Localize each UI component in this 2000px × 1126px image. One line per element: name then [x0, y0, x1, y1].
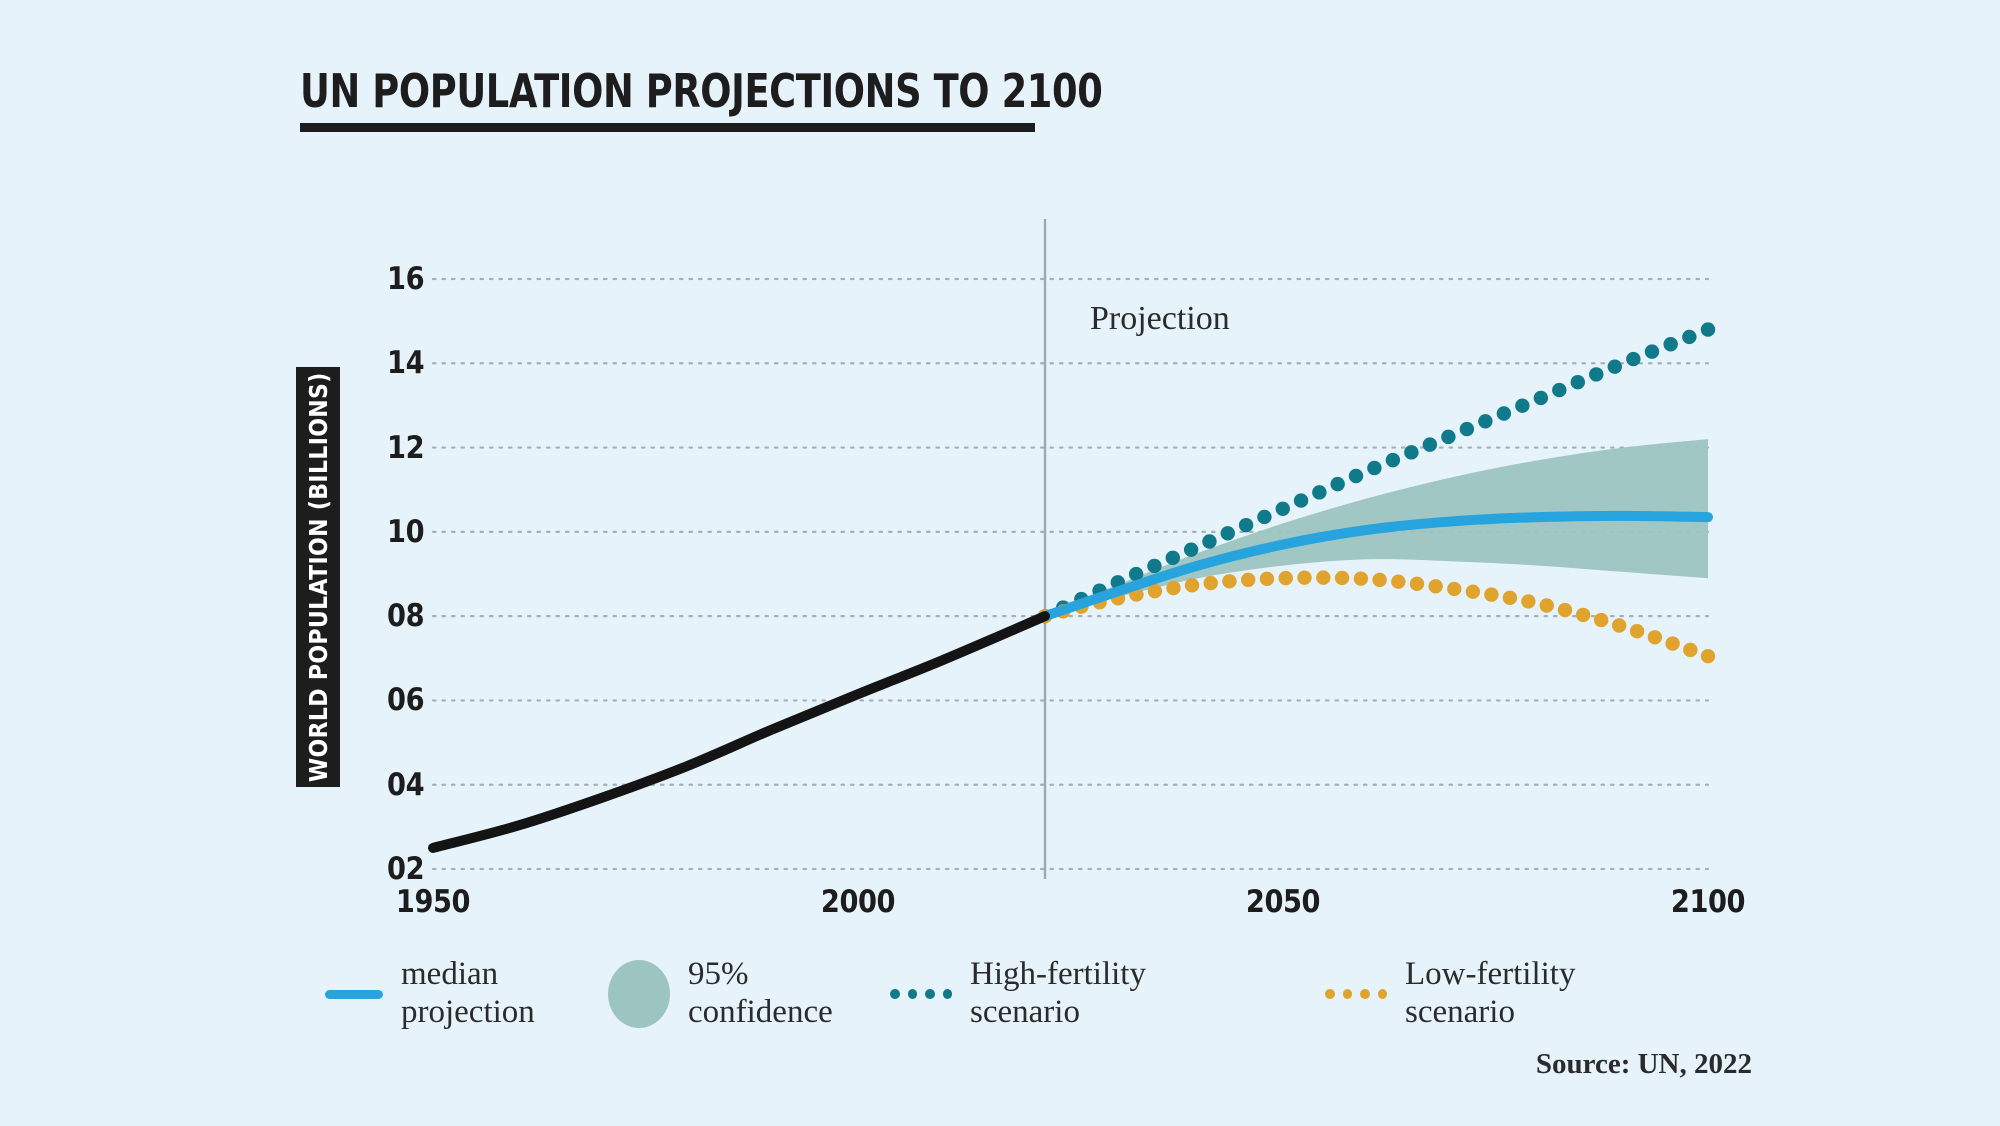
data-dot — [1297, 571, 1311, 585]
data-dot — [1558, 603, 1572, 617]
gridlines — [433, 279, 1708, 869]
plot-area — [433, 279, 1708, 869]
y-axis-tick-label: 08 — [382, 598, 424, 634]
legend-dot — [943, 989, 953, 999]
legend-dot — [1378, 989, 1388, 999]
data-dot — [1515, 399, 1529, 413]
data-dot — [1608, 359, 1622, 373]
data-dot — [1257, 510, 1271, 524]
data-dot — [1571, 375, 1585, 389]
legend-dot — [1343, 989, 1353, 999]
data-dot — [1330, 477, 1344, 491]
legend-dot — [890, 989, 900, 999]
y-axis-tick-label: 04 — [382, 767, 424, 803]
y-axis-tick-label: 10 — [382, 514, 424, 550]
projection-annotation: Projection — [1090, 300, 1230, 338]
data-dot — [1466, 584, 1480, 598]
y-axis-tick-text: 08 — [387, 598, 424, 634]
data-dot — [1294, 493, 1308, 507]
y-axis-ticks: 1614121008060402 — [372, 279, 424, 869]
legend-dots-swatch-icon — [1325, 989, 1387, 999]
data-dot — [1521, 594, 1535, 608]
data-dot — [1184, 542, 1198, 556]
data-dot — [1204, 576, 1218, 590]
data-dot — [1576, 608, 1590, 622]
y-axis-tick-text: 06 — [387, 682, 424, 718]
data-dot — [1404, 445, 1418, 459]
data-dot — [1221, 526, 1235, 540]
legend-item-label: High-fertility scenario — [970, 956, 1146, 1032]
y-axis-tick-label: 14 — [382, 345, 424, 381]
data-dot — [1534, 391, 1548, 405]
y-axis-tick-text: 02 — [387, 851, 424, 887]
data-dot — [1372, 573, 1386, 587]
data-dot — [1166, 551, 1180, 565]
legend-item-median-projection[interactable]: median projection — [325, 952, 535, 1036]
legend-dot — [1325, 989, 1335, 999]
data-dot — [1410, 577, 1424, 591]
page-title-block: UN POPULATION PROJECTIONS TO 2100 — [300, 68, 1303, 132]
data-dot — [1260, 572, 1274, 586]
y-axis-tick-text: 12 — [387, 430, 424, 466]
data-dot — [1354, 571, 1368, 585]
data-dot — [1626, 352, 1640, 366]
data-dot — [1148, 584, 1162, 598]
x-axis-tick-text: 2050 — [1246, 884, 1320, 920]
x-axis-tick-label: 2000 — [816, 884, 900, 920]
legend-line-swatch-icon — [325, 990, 383, 999]
legend-dot — [925, 989, 935, 999]
legend-item-high-fertility[interactable]: High-fertility scenario — [890, 952, 1146, 1036]
y-axis-tick-label: 12 — [382, 430, 424, 466]
data-dot — [1665, 636, 1679, 650]
x-axis-tick-label: 2100 — [1666, 884, 1750, 920]
y-axis-tick-label: 16 — [382, 261, 424, 297]
data-dot — [1552, 383, 1566, 397]
data-dot — [1335, 571, 1349, 585]
data-dot — [1391, 574, 1405, 588]
data-dot — [1312, 485, 1326, 499]
data-dot — [1484, 587, 1498, 601]
x-axis-tick-text: 2100 — [1671, 884, 1745, 920]
x-axis-tick-label: 2050 — [1241, 884, 1325, 920]
data-dot — [1428, 579, 1442, 593]
x-axis-tick-label: 1950 — [391, 884, 475, 920]
data-dot — [1503, 591, 1517, 605]
data-dot — [1166, 581, 1180, 595]
data-dot — [1367, 461, 1381, 475]
legend-item-label: Low-fertility scenario — [1405, 956, 1575, 1032]
chart-canvas — [433, 279, 1708, 869]
data-dot — [1447, 582, 1461, 596]
data-dot — [1279, 571, 1293, 585]
data-dot — [1648, 630, 1662, 644]
data-dot — [1239, 518, 1253, 532]
legend-dots-swatch-icon — [890, 989, 952, 999]
data-dot — [1663, 337, 1677, 351]
data-dot — [1540, 598, 1554, 612]
x-axis-tick-text: 2000 — [821, 884, 895, 920]
x-axis-tick-text: 1950 — [396, 884, 470, 920]
legend-circle-swatch-icon — [608, 960, 670, 1028]
data-dot — [1441, 430, 1455, 444]
data-dot — [1701, 649, 1715, 663]
data-dot — [1612, 618, 1626, 632]
data-dot — [1423, 437, 1437, 451]
data-dot — [1202, 534, 1216, 548]
y-axis-title: WORLD POPULATION (BILLIONS) — [296, 367, 340, 787]
data-dot — [1478, 414, 1492, 428]
data-dot — [1589, 367, 1603, 381]
page-title: UN POPULATION PROJECTIONS TO 2100 — [300, 68, 1102, 114]
data-dot — [1185, 578, 1199, 592]
legend-item-label: 95% confidence — [688, 956, 833, 1032]
data-dot — [1497, 406, 1511, 420]
data-dot — [1630, 624, 1644, 638]
y-axis-tick-label: 06 — [382, 682, 424, 718]
data-dot — [1701, 322, 1715, 336]
series-historical — [433, 616, 1045, 848]
chart-legend: median projection95% confidenceHigh-fert… — [325, 952, 1625, 1036]
source-note: Source: UN, 2022 — [1536, 1048, 1752, 1081]
data-dot — [1682, 330, 1696, 344]
title-underline — [300, 123, 1035, 132]
y-axis-tick-label: 02 — [382, 851, 424, 887]
data-dot — [1316, 570, 1330, 584]
x-axis-ticks: 1950200020502100 — [433, 884, 1708, 928]
data-dot — [1349, 469, 1363, 483]
legend-item-low-fertility[interactable]: Low-fertility scenario — [1325, 952, 1575, 1036]
legend-dot — [1360, 989, 1370, 999]
legend-dot — [908, 989, 918, 999]
chart-page: UN POPULATION PROJECTIONS TO 2100 WORLD … — [0, 0, 2000, 1126]
data-dot — [1276, 502, 1290, 516]
data-dot — [1594, 613, 1608, 627]
y-axis-tick-text: 04 — [387, 767, 424, 803]
y-axis-title-label: WORLD POPULATION (BILLIONS) — [304, 372, 333, 782]
y-axis-tick-text: 14 — [387, 345, 424, 381]
data-dot — [1241, 573, 1255, 587]
data-dot — [1147, 559, 1161, 573]
data-dot — [1460, 422, 1474, 436]
data-dot — [1645, 344, 1659, 358]
data-dot — [1386, 453, 1400, 467]
y-axis-tick-text: 10 — [387, 514, 424, 550]
legend-item-confidence-band[interactable]: 95% confidence — [608, 952, 833, 1036]
legend-item-label: median projection — [401, 956, 535, 1032]
y-axis-tick-text: 16 — [387, 261, 424, 297]
data-dot — [1222, 574, 1236, 588]
data-dot — [1683, 643, 1697, 657]
